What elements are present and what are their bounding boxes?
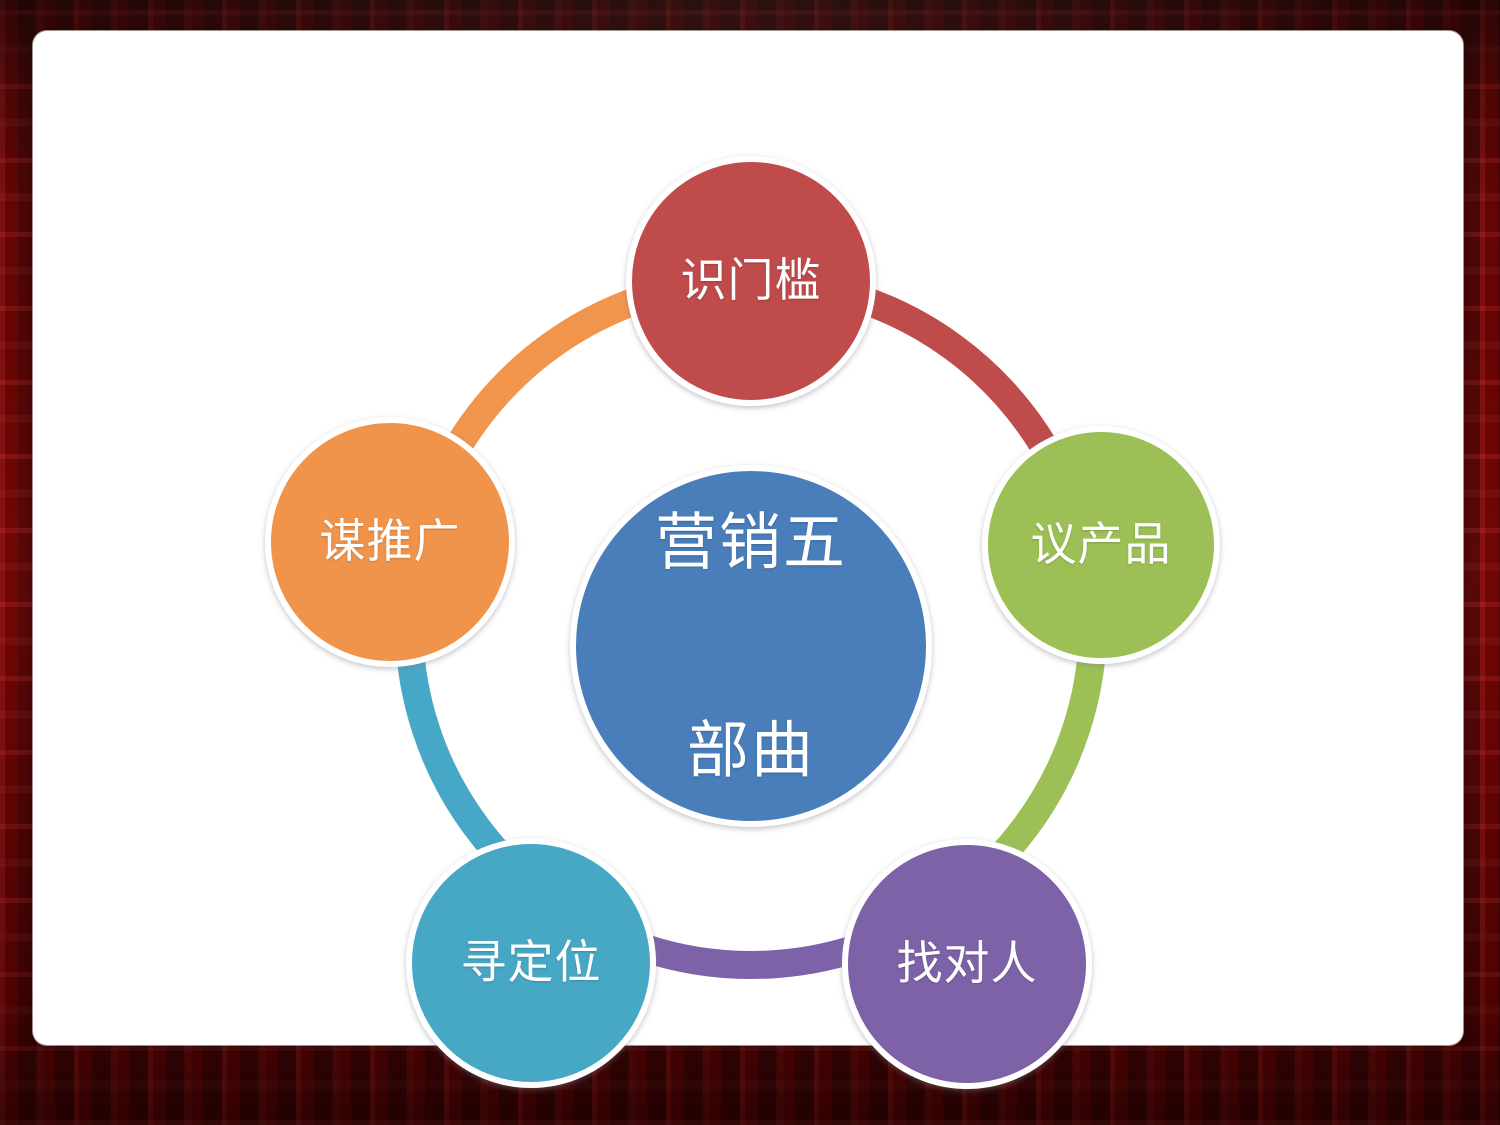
node-hit-left[interactable]: [268, 420, 512, 664]
node-hit-top[interactable]: [629, 159, 873, 403]
node-hit-bottom-left[interactable]: [409, 841, 653, 1085]
node-hit-bottom-right[interactable]: [845, 842, 1089, 1086]
slide-canvas: 识门槛 议产品 找对人 寻定位 谋推广 营销五 部曲: [0, 0, 1500, 1125]
node-hit-hub[interactable]: [573, 468, 929, 824]
node-hit-right[interactable]: [985, 429, 1217, 661]
marketing-five-steps-diagram: 识门槛 议产品 找对人 寻定位 谋推广 营销五 部曲: [33, 31, 1463, 1045]
